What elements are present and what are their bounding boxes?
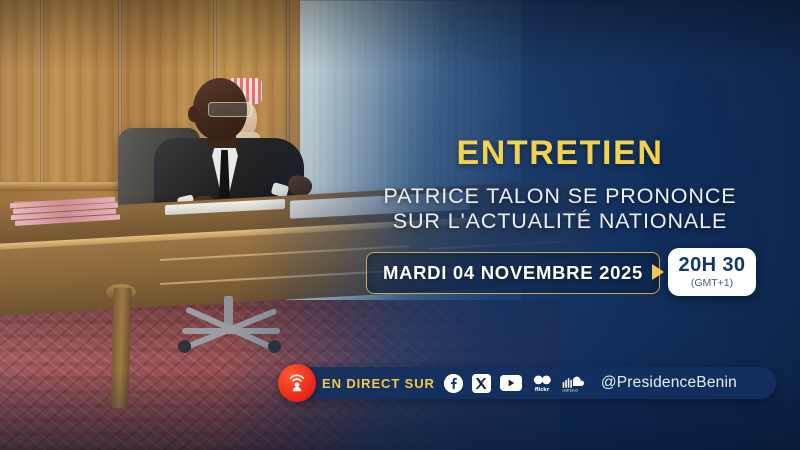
- svg-text:flickr: flickr: [535, 386, 550, 392]
- svg-text:soundcloud: soundcloud: [562, 388, 578, 392]
- broadcast-promo-graphic: ENTRETIEN PATRICE TALON SE PRONONCE SUR …: [0, 0, 800, 450]
- title-block: ENTRETIEN PATRICE TALON SE PRONONCE SUR …: [360, 136, 760, 234]
- broadcast-date-text: MARDI 04 NOVEMBRE 2025: [383, 262, 643, 284]
- x-twitter-icon[interactable]: [472, 374, 491, 393]
- program-subtitle: PATRICE TALON SE PRONONCE SUR L'ACTUALIT…: [360, 184, 760, 234]
- broadcast-timezone-text: (GMT+1): [691, 278, 733, 289]
- speaker-ear: [188, 106, 199, 122]
- subtitle-line-1: PATRICE TALON SE PRONONCE: [360, 184, 760, 209]
- live-label: EN DIRECT SUR: [322, 376, 435, 391]
- flickr-icon[interactable]: flickr: [531, 374, 553, 393]
- schedule-row: MARDI 04 NOVEMBRE 2025 20H 30 (GMT+1): [366, 252, 756, 296]
- speaker-glasses: [208, 102, 252, 117]
- arrow-right-icon: [652, 264, 664, 280]
- chair-wheel: [268, 340, 281, 353]
- facebook-icon[interactable]: [444, 374, 463, 393]
- chair-wheel: [178, 340, 191, 353]
- desk-leg: [110, 288, 131, 408]
- youtube-icon[interactable]: [500, 375, 522, 391]
- chair-base: [176, 296, 286, 356]
- broadcast-time-text: 20H 30: [679, 255, 746, 275]
- program-kicker: ENTRETIEN: [360, 136, 760, 170]
- broadcast-time-box: 20H 30 (GMT+1): [668, 248, 756, 296]
- social-handle[interactable]: @PresidenceBenin: [601, 374, 737, 392]
- subtitle-line-2: SUR L'ACTUALITÉ NATIONALE: [360, 209, 760, 234]
- social-bar: EN DIRECT SUR flickr: [296, 367, 776, 399]
- broadcast-date-pill: MARDI 04 NOVEMBRE 2025: [366, 252, 660, 294]
- broadcast-live-icon[interactable]: [278, 364, 316, 402]
- soundcloud-icon[interactable]: soundcloud: [562, 374, 586, 393]
